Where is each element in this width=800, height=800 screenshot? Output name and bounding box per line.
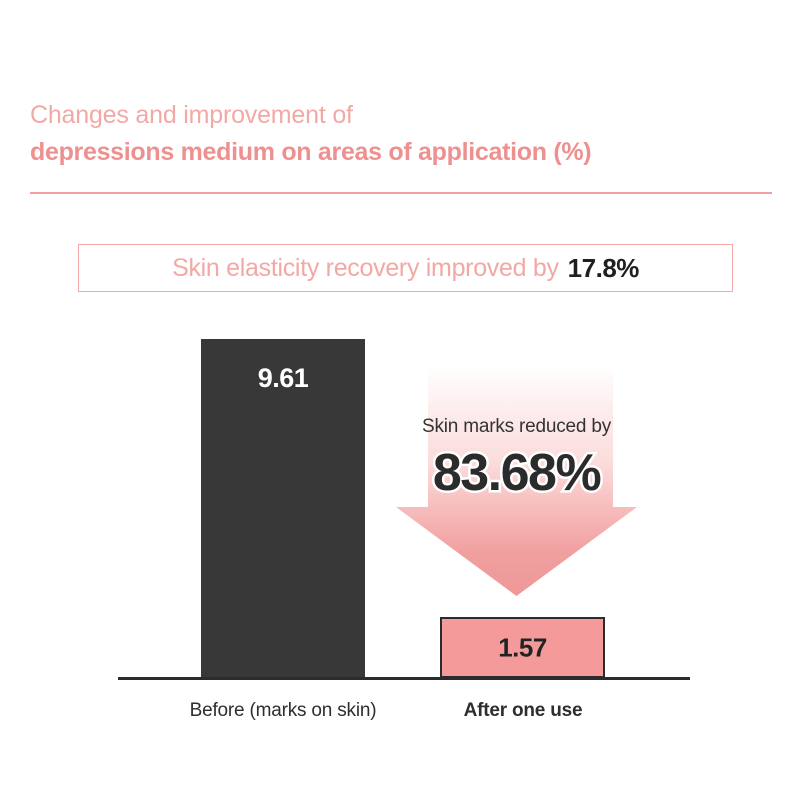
bar-after: 1.57: [440, 617, 605, 678]
arrow-value: 83.68%: [386, 443, 647, 503]
infographic-root: Changes and improvement of depressions m…: [0, 0, 800, 800]
bar-chart: Skin marks reduced by 83.68% 9.61 1.57 B…: [0, 0, 800, 800]
axis-label-before: Before (marks on skin): [183, 700, 383, 722]
arrow-caption: Skin marks reduced by: [396, 416, 637, 438]
axis-baseline: [118, 677, 690, 680]
bar-after-value: 1.57: [442, 632, 603, 663]
bar-before: 9.61: [201, 339, 365, 678]
bar-before-value: 9.61: [201, 363, 365, 394]
axis-label-after: After one use: [423, 700, 623, 722]
